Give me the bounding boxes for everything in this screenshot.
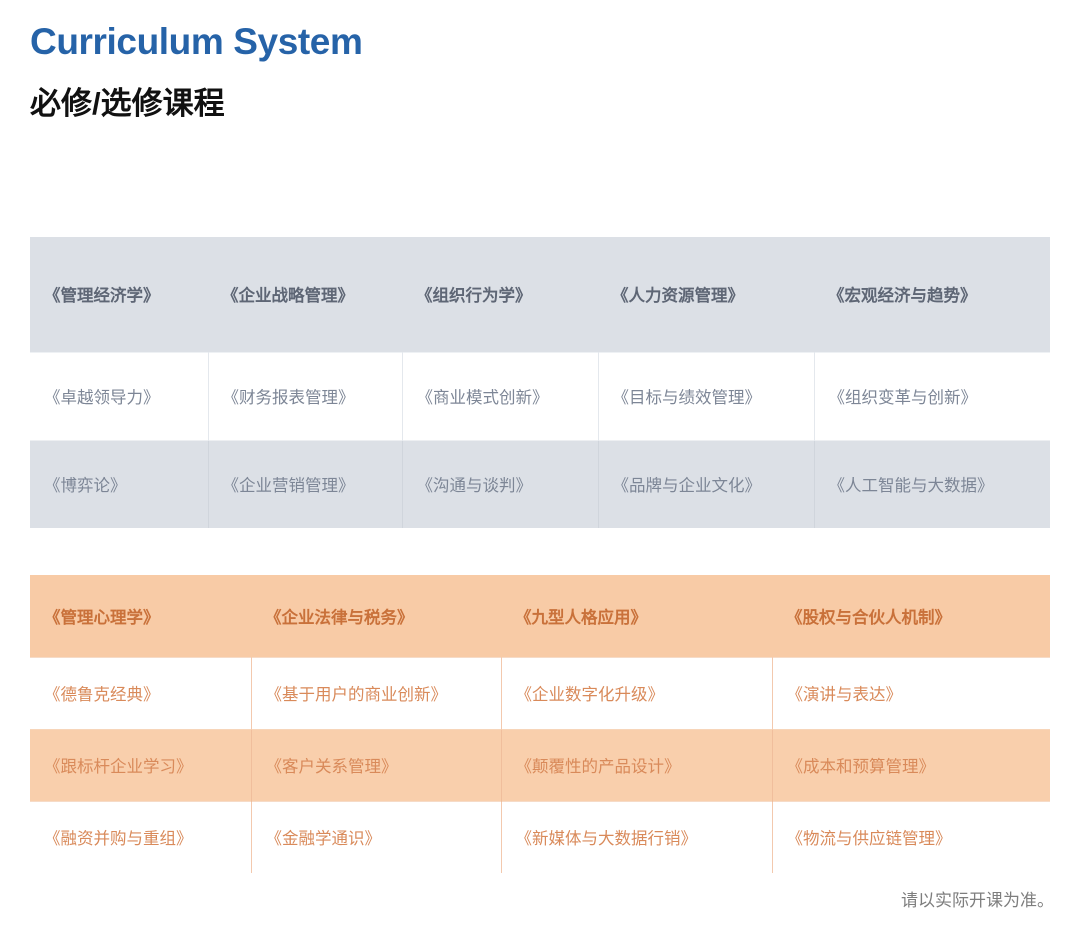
table-row: 《卓越领导力》 《财务报表管理》 《商业模式创新》 《目标与绩效管理》 《组织变… [30, 352, 1050, 440]
table-cell: 《演讲与表达》 [772, 657, 1050, 729]
table-row-header: 《管理经济学》 《企业战略管理》 《组织行为学》 《人力资源管理》 《宏观经济与… [30, 237, 1050, 352]
table-cell: 《基于用户的商业创新》 [251, 657, 501, 729]
table-cell: 《人力资源管理》 [598, 237, 814, 352]
table-cell: 《管理心理学》 [30, 575, 251, 657]
table-cell: 《融资并购与重组》 [30, 801, 251, 873]
table-cell: 《目标与绩效管理》 [598, 352, 814, 440]
table-cell: 《金融学通识》 [251, 801, 501, 873]
table-cell: 《成本和预算管理》 [772, 729, 1050, 801]
table-cell: 《企业营销管理》 [208, 440, 402, 528]
table-cell: 《股权与合伙人机制》 [772, 575, 1050, 657]
table-cell: 《管理经济学》 [30, 237, 208, 352]
table-row: 《跟标杆企业学习》 《客户关系管理》 《颠覆性的产品设计》 《成本和预算管理》 [30, 729, 1050, 801]
table-cell: 《卓越领导力》 [30, 352, 208, 440]
table-cell: 《颠覆性的产品设计》 [501, 729, 772, 801]
table-cell: 《企业法律与税务》 [251, 575, 501, 657]
table-cell: 《九型人格应用》 [501, 575, 772, 657]
table-cell: 《品牌与企业文化》 [598, 440, 814, 528]
table-cell: 《沟通与谈判》 [402, 440, 598, 528]
page-title-cn: 必修/选修课程 [30, 85, 225, 122]
table-row-header: 《管理心理学》 《企业法律与税务》 《九型人格应用》 《股权与合伙人机制》 [30, 575, 1050, 657]
table-cell: 《德鲁克经典》 [30, 657, 251, 729]
table-cell: 《财务报表管理》 [208, 352, 402, 440]
table-row: 《德鲁克经典》 《基于用户的商业创新》 《企业数字化升级》 《演讲与表达》 [30, 657, 1050, 729]
table-cell: 《新媒体与大数据行销》 [501, 801, 772, 873]
table-cell: 《组织行为学》 [402, 237, 598, 352]
footnote-text: 请以实际开课为准。 [901, 886, 1054, 911]
page-title-en: Curriculum System [30, 22, 362, 63]
table-cell: 《跟标杆企业学习》 [30, 729, 251, 801]
table-cell: 《商业模式创新》 [402, 352, 598, 440]
core-courses-table: 《管理经济学》 《企业战略管理》 《组织行为学》 《人力资源管理》 《宏观经济与… [30, 237, 1050, 528]
table-cell: 《宏观经济与趋势》 [814, 237, 1050, 352]
curriculum-system-page: Curriculum System 必修/选修课程 《管理经济学》 《企业战略管… [0, 0, 1080, 927]
table-cell: 《客户关系管理》 [251, 729, 501, 801]
table-cell: 《博弈论》 [30, 440, 208, 528]
table-cell: 《物流与供应链管理》 [772, 801, 1050, 873]
table-row: 《博弈论》 《企业营销管理》 《沟通与谈判》 《品牌与企业文化》 《人工智能与大… [30, 440, 1050, 528]
table-cell: 《企业数字化升级》 [501, 657, 772, 729]
table-cell: 《企业战略管理》 [208, 237, 402, 352]
table-cell: 《人工智能与大数据》 [814, 440, 1050, 528]
elective-courses-table: 《管理心理学》 《企业法律与税务》 《九型人格应用》 《股权与合伙人机制》 《德… [30, 575, 1050, 873]
table-cell: 《组织变革与创新》 [814, 352, 1050, 440]
table-row: 《融资并购与重组》 《金融学通识》 《新媒体与大数据行销》 《物流与供应链管理》 [30, 801, 1050, 873]
